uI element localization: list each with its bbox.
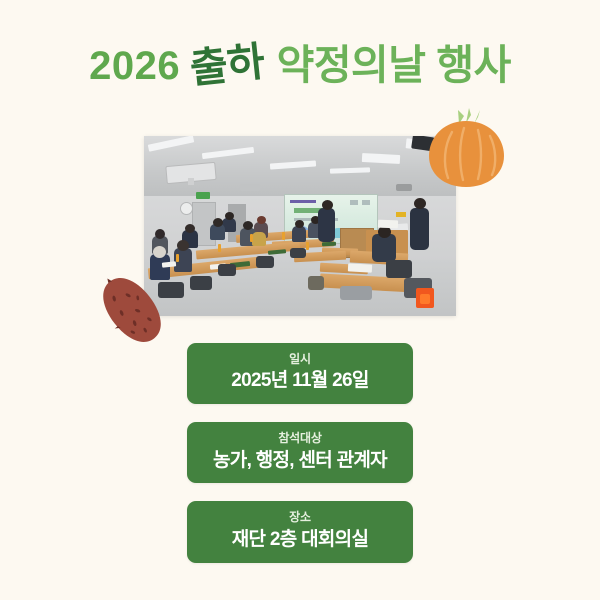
photo-bottle xyxy=(250,234,253,242)
photo-screen-accent xyxy=(290,200,316,203)
photo-attendee-head xyxy=(295,220,304,228)
photo-bottle xyxy=(176,254,179,262)
photo-paper xyxy=(348,263,372,272)
info-box-attendees: 참석대상 농가, 행정, 센터 관계자 xyxy=(187,422,413,483)
photo-bottle xyxy=(306,242,309,250)
event-poster: 2026출하약정의날 행사 xyxy=(0,0,600,600)
photo-attendee-head xyxy=(153,246,166,258)
photo-wall-tag xyxy=(396,212,406,217)
info-box-date: 일시 2025년 11월 26일 xyxy=(187,343,413,404)
info-box-location: 장소 재단 2층 대회의실 xyxy=(187,501,413,562)
photo-ceiling-light xyxy=(362,153,400,164)
title-main-text: 약정의날 행사 xyxy=(277,44,511,87)
poster-title: 2026출하약정의날 행사 xyxy=(0,44,600,87)
photo-bottle xyxy=(282,232,285,240)
photo-bottle xyxy=(218,244,221,252)
photo-attendee-head xyxy=(213,218,223,227)
photo-chair xyxy=(218,264,236,276)
sweet-potato-icon xyxy=(92,270,172,350)
event-details: 일시 2025년 11월 26일 참석대상 농가, 행정, 센터 관계자 장소 … xyxy=(0,343,600,581)
info-label-attendees: 참석대상 xyxy=(195,431,405,445)
photo-paper xyxy=(378,220,398,229)
photo-screen-logo xyxy=(350,200,358,205)
photo-presenter-head xyxy=(322,200,333,210)
photo-chair xyxy=(190,276,212,290)
photo-attendee xyxy=(292,226,306,242)
info-value-date: 2025년 11월 26일 xyxy=(195,370,405,393)
info-label-date: 일시 xyxy=(195,352,405,366)
photo-chair xyxy=(386,260,412,278)
title-emphasis-word: 출하 xyxy=(188,40,267,91)
photo-presenter xyxy=(318,208,335,242)
photo-chair xyxy=(290,248,306,258)
photo-attendee-head xyxy=(243,221,253,230)
photo-screen-logo xyxy=(362,200,370,205)
onion-icon xyxy=(424,108,508,190)
photo-presenter-head xyxy=(414,198,426,209)
photo-attendee-head xyxy=(185,224,195,233)
photo-projector-mount xyxy=(188,178,194,185)
photo-attendee-head xyxy=(155,229,165,239)
photo-attendee-head xyxy=(177,240,189,251)
photo-bag xyxy=(308,276,324,290)
photo-presenter xyxy=(410,208,429,250)
title-year: 2026 xyxy=(89,45,180,87)
info-value-attendees: 농가, 행정, 센터 관계자 xyxy=(195,450,405,473)
photo-table-item xyxy=(322,242,336,246)
photo-exit-sign xyxy=(196,192,210,199)
photo-orange-object xyxy=(420,294,430,304)
photo-ceiling-speaker xyxy=(240,184,260,191)
info-label-location: 장소 xyxy=(195,510,405,524)
photo-attendee-head xyxy=(225,212,234,220)
photo-chair xyxy=(256,256,274,268)
photo-attendee-head xyxy=(257,216,266,224)
photo-attendee xyxy=(372,234,396,262)
event-photo xyxy=(144,136,456,316)
photo-chair xyxy=(340,286,372,300)
info-value-location: 재단 2층 대회의실 xyxy=(195,529,405,552)
photo-attendee xyxy=(252,232,266,246)
photo-ceiling-speaker xyxy=(396,184,412,191)
